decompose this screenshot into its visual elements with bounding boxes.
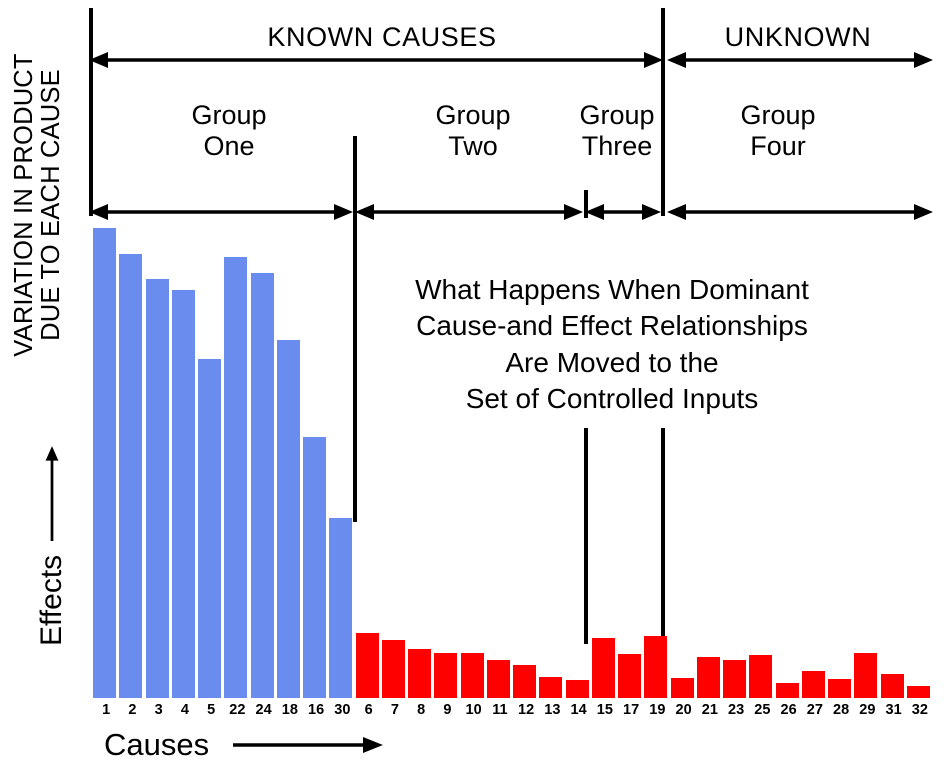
- bar-cause-32: [907, 686, 930, 698]
- x-tick-18: 18: [277, 700, 303, 720]
- bar-cause-31: [881, 674, 904, 698]
- up-arrow-icon: [42, 446, 62, 541]
- group-three-line1: Group: [571, 100, 663, 131]
- bar-cause-11: [487, 660, 510, 698]
- group-three-line2: Three: [571, 131, 663, 162]
- bar-cause-12: [513, 665, 536, 698]
- bar-cause-16: [303, 437, 326, 698]
- x-tick-9: 9: [434, 700, 460, 720]
- x-tick-31: 31: [881, 700, 907, 720]
- bar-cause-29: [854, 653, 877, 698]
- x-tick-22: 22: [224, 700, 250, 720]
- bar-cause-23: [723, 660, 746, 698]
- bar-cause-13: [539, 677, 562, 698]
- bar-cause-26: [776, 683, 799, 698]
- bar-cause-5: [198, 359, 221, 698]
- group-one-line1: Group: [105, 100, 353, 131]
- x-tick-19: 19: [644, 700, 670, 720]
- group-label-three: Group Three: [571, 100, 663, 163]
- bar-cause-30: [329, 518, 352, 698]
- x-axis-tick-labels: 1234522241816306789101112131415171920212…: [93, 700, 933, 722]
- bar-cause-4: [172, 290, 195, 698]
- x-tick-3: 3: [146, 700, 172, 720]
- x-tick-16: 16: [303, 700, 329, 720]
- group-label-two: Group Two: [390, 100, 556, 163]
- x-tick-7: 7: [382, 700, 408, 720]
- y-axis-title-line2: DUE TO EACH CAUSE: [38, 69, 65, 341]
- x-axis-title-text: Causes: [104, 727, 209, 763]
- bar-cause-25: [749, 655, 772, 698]
- bar-cause-22: [224, 257, 247, 698]
- y-axis-title: VARIATION IN PRODUCT DUE TO EACH CAUSE: [0, 0, 76, 415]
- bar-cause-8: [408, 649, 431, 698]
- bar-cause-9: [434, 653, 457, 698]
- y-axis-title-line1: VARIATION IN PRODUCT: [11, 53, 38, 356]
- x-tick-12: 12: [513, 700, 539, 720]
- group-two-line1: Group: [390, 100, 556, 131]
- bar-cause-20: [671, 678, 694, 698]
- bar-cause-10: [461, 653, 484, 698]
- group-one-line2: One: [105, 131, 353, 162]
- x-tick-15: 15: [592, 700, 618, 720]
- bar-cause-18: [277, 340, 300, 698]
- x-tick-20: 20: [671, 700, 697, 720]
- effects-axis-label: Effects: [30, 446, 74, 646]
- band-measure-arrows: [89, 48, 933, 72]
- x-tick-28: 28: [828, 700, 854, 720]
- group-four-line1: Group: [676, 100, 880, 131]
- x-tick-17: 17: [618, 700, 644, 720]
- bar-cause-7: [382, 640, 405, 698]
- bar-cause-19: [644, 636, 667, 698]
- bar-cause-27: [802, 671, 825, 698]
- effects-label-text: Effects: [35, 555, 69, 646]
- x-tick-4: 4: [172, 700, 198, 720]
- x-tick-11: 11: [487, 700, 513, 720]
- x-axis-title: Causes: [104, 727, 383, 763]
- group-two-line2: Two: [390, 131, 556, 162]
- bar-cause-3: [146, 279, 169, 698]
- x-tick-10: 10: [461, 700, 487, 720]
- x-tick-1: 1: [93, 700, 119, 720]
- group-measure-arrows: [89, 200, 933, 224]
- x-tick-23: 23: [723, 700, 749, 720]
- bar-cause-6: [356, 633, 379, 698]
- bar-cause-28: [828, 679, 851, 698]
- bar-cause-21: [697, 657, 720, 698]
- divider-known-unknown-upper: [661, 8, 665, 216]
- x-tick-8: 8: [408, 700, 434, 720]
- plot-left-spine: [89, 8, 93, 216]
- group-four-line2: Four: [676, 131, 880, 162]
- bar-cause-1: [93, 228, 116, 698]
- group-label-four: Group Four: [676, 100, 880, 163]
- x-tick-13: 13: [539, 700, 565, 720]
- bar-cause-24: [251, 273, 274, 698]
- x-tick-25: 25: [749, 700, 775, 720]
- bar-plot-area: [93, 228, 933, 698]
- x-tick-26: 26: [776, 700, 802, 720]
- x-tick-14: 14: [566, 700, 592, 720]
- x-tick-30: 30: [329, 700, 355, 720]
- x-tick-24: 24: [251, 700, 277, 720]
- bar-cause-2: [119, 254, 142, 698]
- x-tick-21: 21: [697, 700, 723, 720]
- bar-cause-14: [566, 680, 589, 698]
- x-tick-2: 2: [119, 700, 145, 720]
- right-arrow-icon: [233, 735, 383, 755]
- chart-canvas: VARIATION IN PRODUCT DUE TO EACH CAUSE E…: [0, 0, 949, 770]
- x-tick-6: 6: [356, 700, 382, 720]
- x-tick-29: 29: [854, 700, 880, 720]
- x-tick-27: 27: [802, 700, 828, 720]
- group-label-one: Group One: [105, 100, 353, 163]
- bar-cause-17: [618, 654, 641, 698]
- x-tick-5: 5: [198, 700, 224, 720]
- bar-cause-15: [592, 638, 615, 698]
- x-tick-32: 32: [907, 700, 933, 720]
